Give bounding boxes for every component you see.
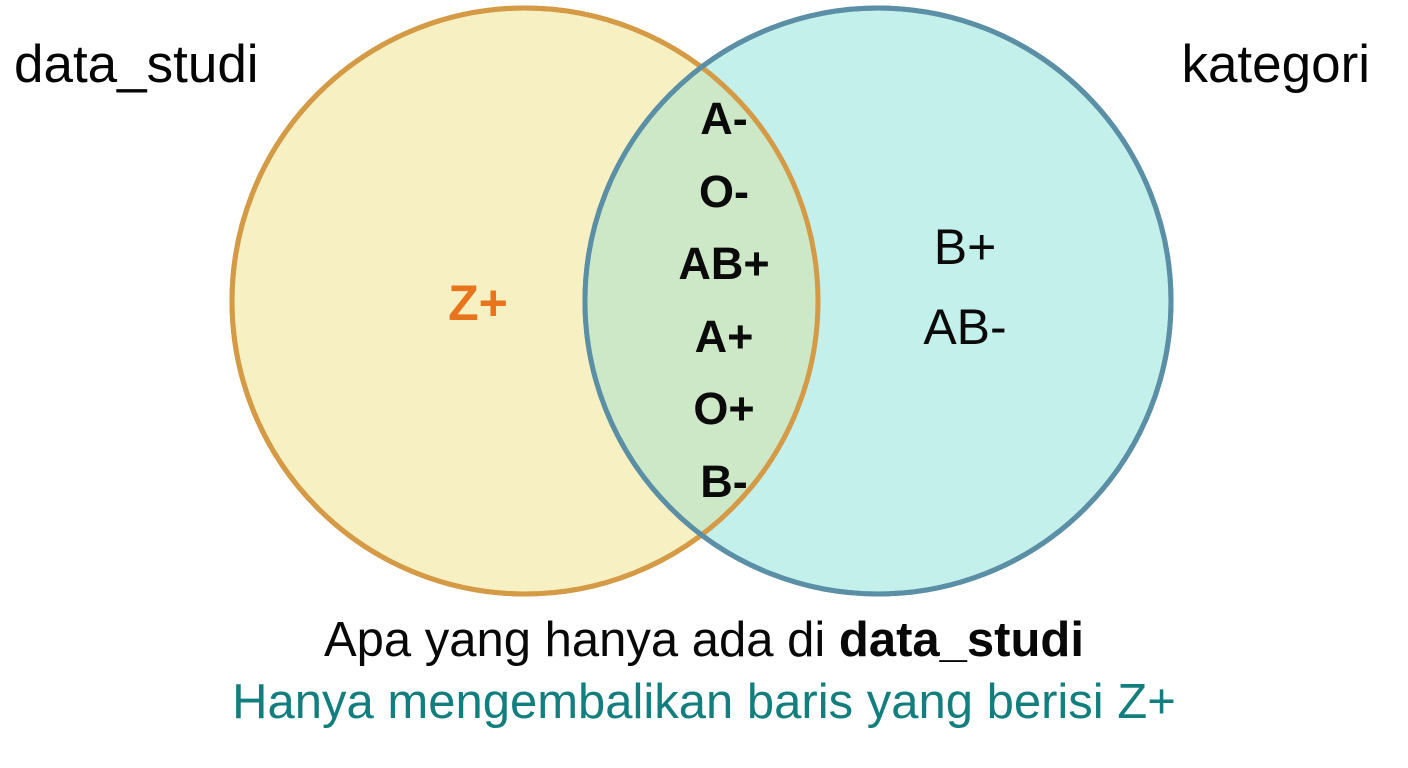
caption-question-emphasis: data_studi: [839, 613, 1084, 667]
set-label-left: data_studi: [14, 38, 259, 91]
set-label-right: kategori: [1181, 38, 1370, 91]
region-item: B+: [934, 222, 997, 272]
region-item: Z+: [448, 278, 508, 328]
diagram-canvas: data_studi kategori Z+ A- O- AB+ A+ O+ B…: [0, 0, 1408, 768]
region-right-only: B+ AB-: [840, 222, 1090, 382]
caption-answer: Hanya mengembalikan baris yang berisi Z+: [232, 674, 1176, 732]
caption-question: Apa yang hanya ada di data_studi: [324, 612, 1084, 670]
venn-diagram: data_studi kategori Z+ A- O- AB+ A+ O+ B…: [0, 0, 1408, 612]
region-item: B-: [700, 459, 747, 504]
region-item: AB+: [678, 241, 769, 286]
region-item: A-: [700, 96, 747, 141]
region-item: O-: [699, 169, 749, 214]
region-intersection: A- O- AB+ A+ O+ B-: [624, 96, 824, 504]
region-item: A+: [695, 314, 754, 359]
region-item: AB-: [923, 302, 1006, 352]
caption-block: Apa yang hanya ada di data_studi Hanya m…: [0, 612, 1408, 768]
region-item: O+: [693, 386, 754, 431]
caption-question-prefix: Apa yang hanya ada di: [324, 613, 839, 667]
region-left-only: Z+: [378, 258, 578, 348]
